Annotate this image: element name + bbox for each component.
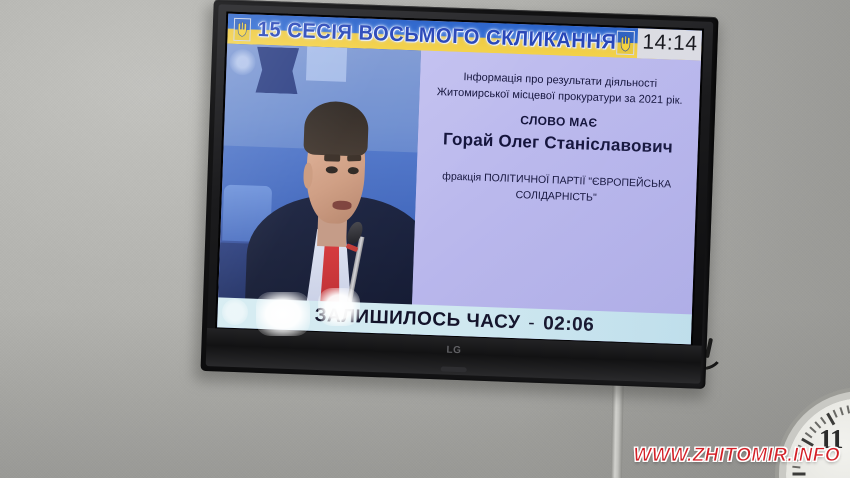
speaker-mouth [332,200,352,210]
ukraine-trident-icon [233,17,251,41]
clock-tick [833,410,838,418]
site-watermark: WWW.ZHITOMIR.INFO [633,445,840,467]
speaker-eyebrow [324,155,340,162]
video-feed [217,44,421,335]
clock-tick [809,426,816,433]
photo-scene: 11 12 15 СЕСІЯ ВОСЬМОГО СКЛИКАННЯ [0,0,850,478]
clock-tick [839,407,843,415]
hall-panel [255,47,299,94]
ticker-countdown: 02:06 [543,313,595,337]
lg-brand-logo: LG [446,345,461,357]
clock-tick [805,432,813,438]
header-right-group: 14:14 [616,28,702,61]
television: 15 СЕСІЯ ВОСЬМОГО СКЛИКАННЯ 14:14 [201,0,719,389]
tv-ir-sensor [440,366,466,372]
tv-screen: 15 СЕСІЯ ВОСЬМОГО СКЛИКАННЯ 14:14 [217,14,702,345]
ticker-separator: - [528,313,536,335]
ukraine-trident-icon [616,31,635,56]
slide-speaker-intro: СЛОВО МАЄ [520,113,598,130]
slide-speaker-name: Горай Олег Станіславович [443,129,674,157]
ticker-label: ЗАЛИШИЛОСЬ ЧАСУ [314,305,520,334]
presentation-slide: Інформація про результати діяльності Жит… [411,51,701,345]
clock-tick [846,405,850,413]
slide-topic: Інформація про результати діяльності Жит… [434,69,685,110]
slide-faction: фракція ПОЛІТИЧНОЇ ПАРТІЇ "ЄВРОПЕЙСЬКА С… [428,169,685,210]
clock-tick [792,473,805,476]
hall-panel-light [306,46,347,81]
broadcast-clock: 14:14 [637,29,702,61]
